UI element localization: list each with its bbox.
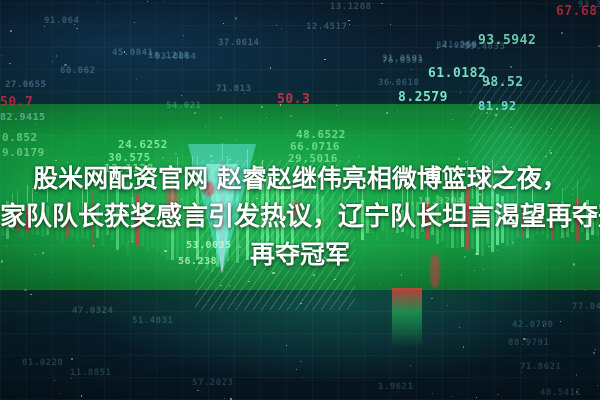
banner-image: 93.594261.018298.528.257981.9267.6850.35… [0,0,600,400]
background-band-top-glow [0,0,600,110]
background-band-bottom-glow [0,290,600,400]
background-band-green-glow [0,104,600,294]
